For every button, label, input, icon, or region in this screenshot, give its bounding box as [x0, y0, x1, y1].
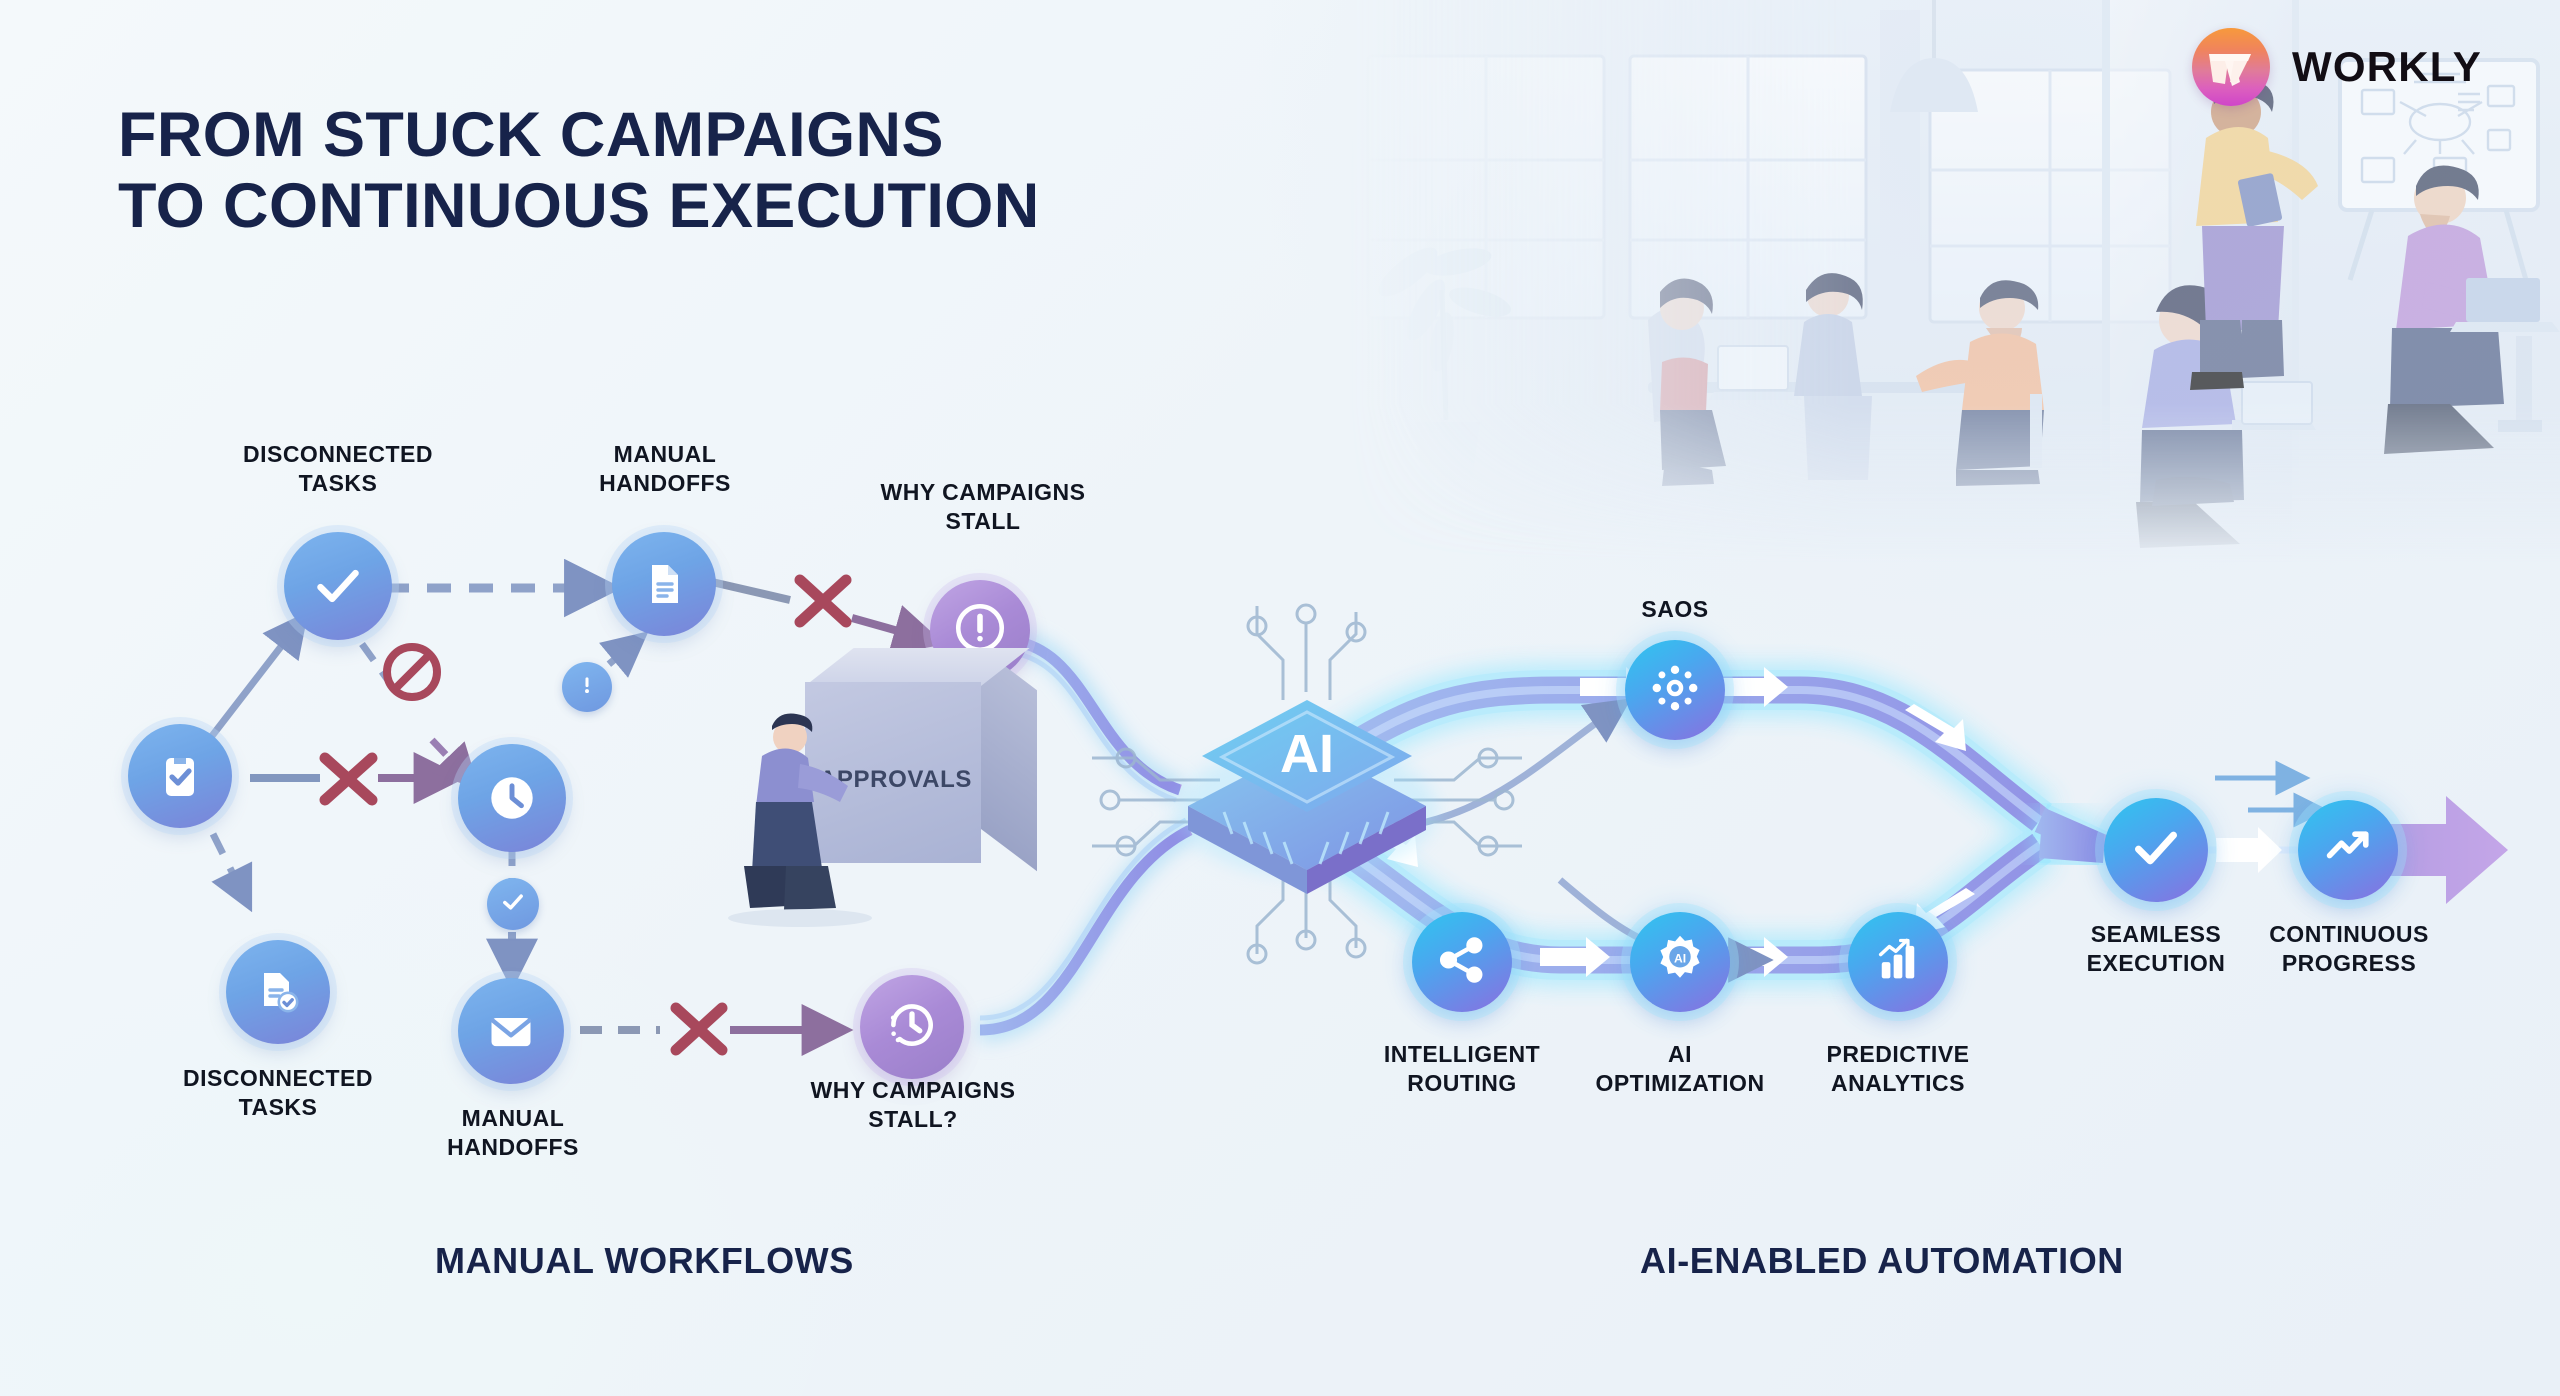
section-title-ai-automation: AI-ENABLED AUTOMATION — [1640, 1240, 2124, 1282]
node-saos[interactable] — [1625, 640, 1725, 740]
trending-up-icon — [2322, 822, 2374, 879]
label-continuous-progress: CONTINUOUS PROGRESS — [2238, 920, 2460, 978]
x-mark-icon — [800, 580, 846, 622]
label-manual-handoffs-bottom: MANUAL HANDOFFS — [368, 1104, 658, 1162]
hub-network-icon — [1647, 660, 1703, 721]
node-clock[interactable] — [458, 744, 566, 852]
ai-chip-label: AI — [1280, 724, 1334, 784]
prohibition-icon — [387, 647, 437, 697]
label-manual-handoffs-top: MANUAL HANDOFFS — [520, 440, 810, 498]
workly-w-mark-icon — [2192, 28, 2270, 106]
node-document[interactable] — [612, 532, 716, 636]
section-title-manual-workflows: MANUAL WORKFLOWS — [435, 1240, 854, 1282]
x-mark-icon — [325, 758, 372, 800]
document-check-icon — [254, 968, 302, 1016]
check-icon — [499, 888, 527, 921]
node-stall-clock[interactable] — [860, 975, 964, 1079]
node-predictive-analytics[interactable] — [1848, 912, 1948, 1012]
label-why-campaigns-stall-bottom: WHY CAMPAIGNS STALL? — [768, 1076, 1058, 1134]
share-branch-icon — [1435, 933, 1489, 992]
node-check-circle[interactable] — [284, 532, 392, 640]
node-mini-check[interactable] — [487, 878, 539, 930]
clock-icon — [485, 771, 539, 825]
x-mark-icon — [676, 1008, 722, 1050]
brand-logo[interactable]: WORKLY — [2192, 28, 2482, 106]
title-line-1: FROM STUCK CAMPAIGNS — [118, 100, 1040, 171]
check-circle-icon — [310, 558, 366, 614]
progress-arrow-icon — [2215, 778, 2318, 810]
clock-history-icon — [883, 996, 941, 1059]
node-envelope[interactable] — [458, 978, 564, 1084]
label-ai-optimization: AI OPTIMIZATION — [1562, 1040, 1798, 1098]
infographic-canvas: WORKLY FROM STUCK CAMPAIGNS TO CONTINUOU… — [0, 0, 2560, 1396]
label-predictive-analytics: PREDICTIVE ANALYTICS — [1786, 1040, 2010, 1098]
ai-chip-top — [1202, 700, 1412, 812]
node-intelligent-routing[interactable] — [1412, 912, 1512, 1012]
node-mini-alert[interactable] — [562, 662, 612, 712]
cube-side-face — [981, 648, 1037, 871]
node-document-check[interactable] — [226, 940, 330, 1044]
gear-ai-icon: AI — [1652, 932, 1708, 993]
node-continuous-progress[interactable] — [2298, 800, 2398, 900]
approvals-box: APPROVALS — [805, 648, 1037, 863]
label-intelligent-routing: INTELLIGENT ROUTING — [1350, 1040, 1574, 1098]
label-disconnected-tasks-top: DISCONNECTED TASKS — [178, 440, 498, 498]
brand-name: WORKLY — [2292, 43, 2482, 91]
check-icon — [2128, 820, 2184, 881]
node-ai-optimization[interactable]: AI — [1630, 912, 1730, 1012]
page-title: FROM STUCK CAMPAIGNS TO CONTINUOUS EXECU… — [118, 100, 1040, 241]
document-icon — [640, 560, 688, 608]
bar-chart-icon — [1872, 934, 1924, 991]
title-line-2: TO CONTINUOUS EXECUTION — [118, 171, 1040, 242]
envelope-icon — [485, 1005, 537, 1057]
ai-chip-base — [1188, 744, 1426, 894]
ai-chip-icon — [1177, 744, 1437, 876]
alert-circle-icon — [574, 672, 600, 703]
approvals-label: APPROVALS — [819, 766, 969, 794]
svg-text:AI: AI — [1674, 951, 1686, 965]
lane-arrow-icon — [2216, 827, 2282, 873]
circuit-trace-icon — [1092, 605, 1522, 963]
node-seamless-execution[interactable] — [2104, 798, 2208, 902]
clipboard-check-icon — [156, 752, 204, 800]
node-clipboard-check[interactable] — [128, 724, 232, 828]
label-saos: SAOS — [1580, 595, 1770, 624]
label-seamless-execution: SEAMLESS EXECUTION — [2046, 920, 2266, 978]
label-why-campaigns-stall-top: WHY CAMPAIGNS STALL — [838, 478, 1128, 536]
